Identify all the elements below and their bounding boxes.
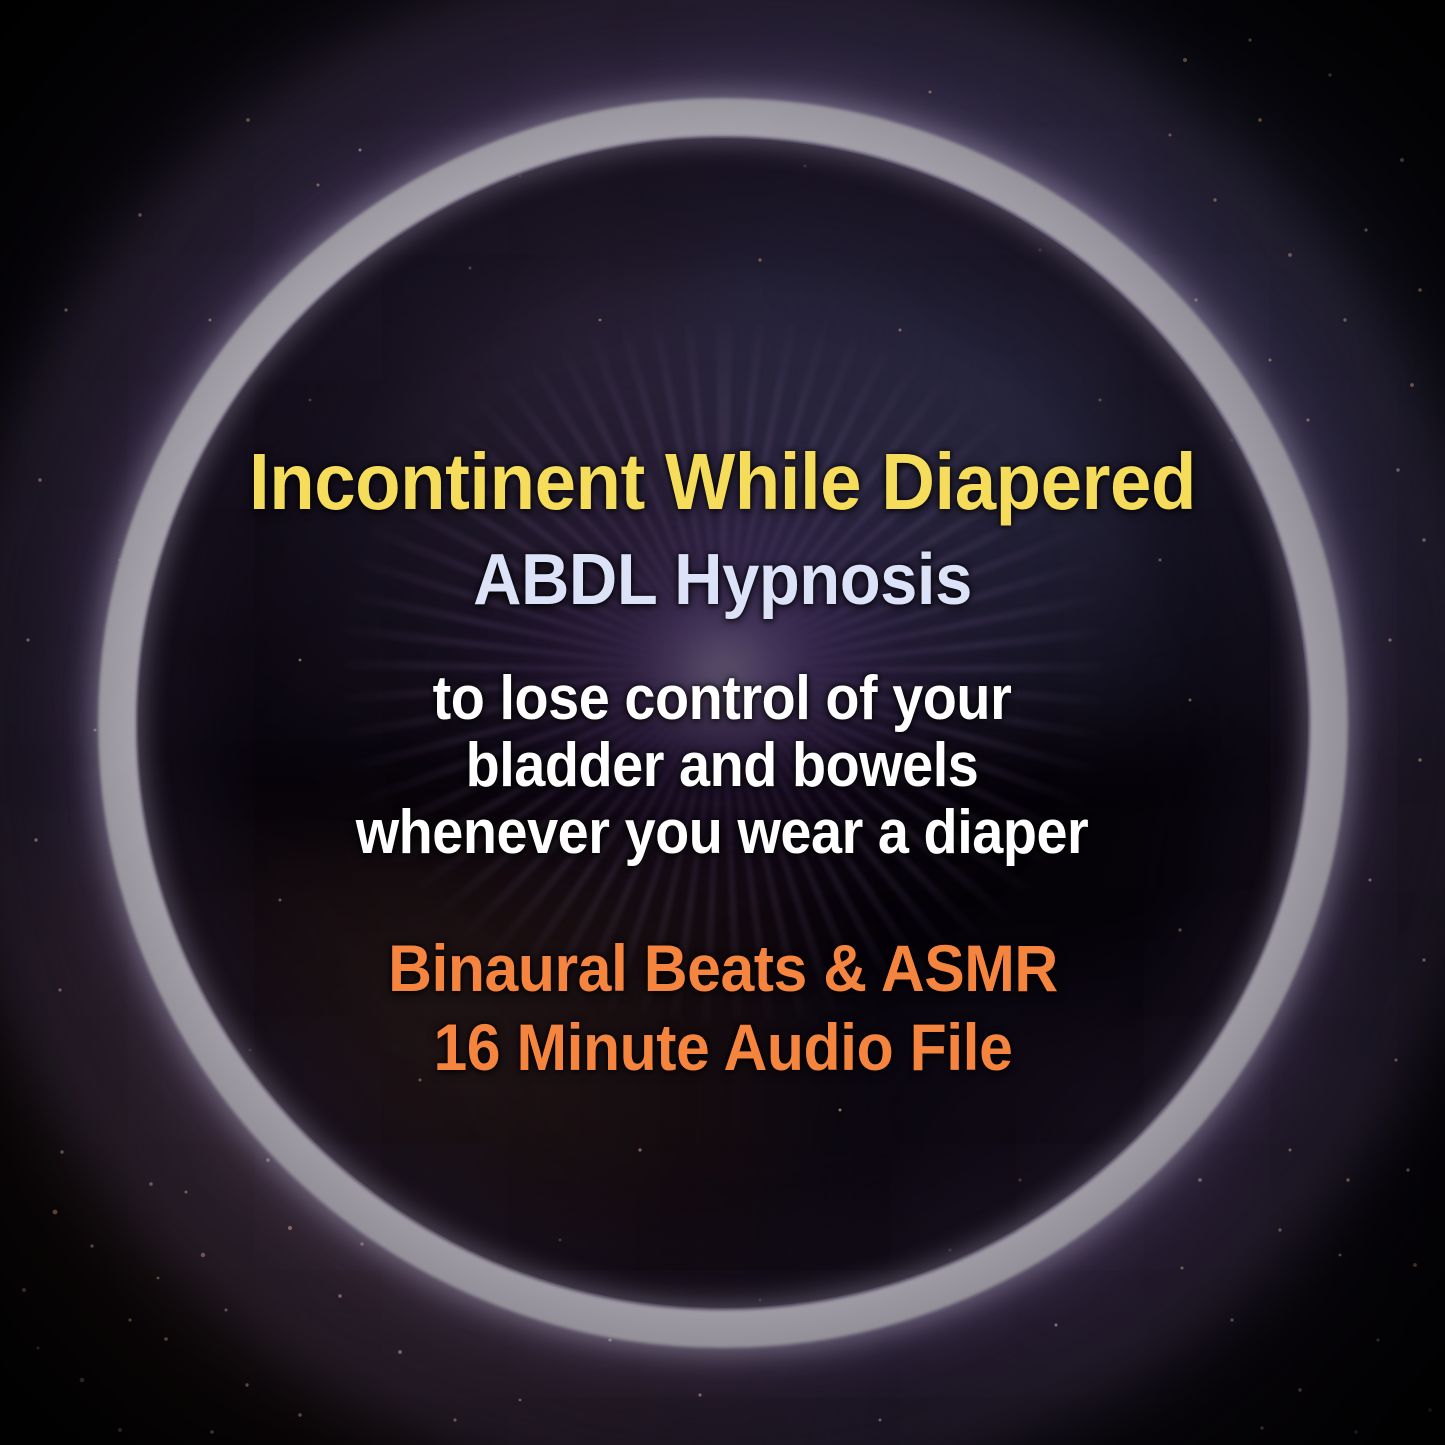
description-line-1: to lose control of your [356, 666, 1089, 733]
poster-title-main: Incontinent While Diapered [51, 440, 1395, 523]
poster-description: to lose control of your bladder and bowe… [315, 666, 1129, 867]
poster-text-content: Incontinent While Diapered ABDL Hypnosis… [0, 0, 1445, 1445]
audio-format-line: Binaural Beats & ASMR [388, 929, 1058, 1008]
audio-duration-line: 16 Minute Audio File [388, 1008, 1058, 1087]
poster-title-sub: ABDL Hypnosis [51, 541, 1395, 620]
poster-audio-details: Binaural Beats & ASMR 16 Minute Audio Fi… [359, 929, 1087, 1087]
description-line-2: bladder and bowels [356, 733, 1089, 800]
poster-canvas: Incontinent While Diapered ABDL Hypnosis… [0, 0, 1445, 1445]
description-line-3: whenever you wear a diaper [356, 800, 1089, 867]
